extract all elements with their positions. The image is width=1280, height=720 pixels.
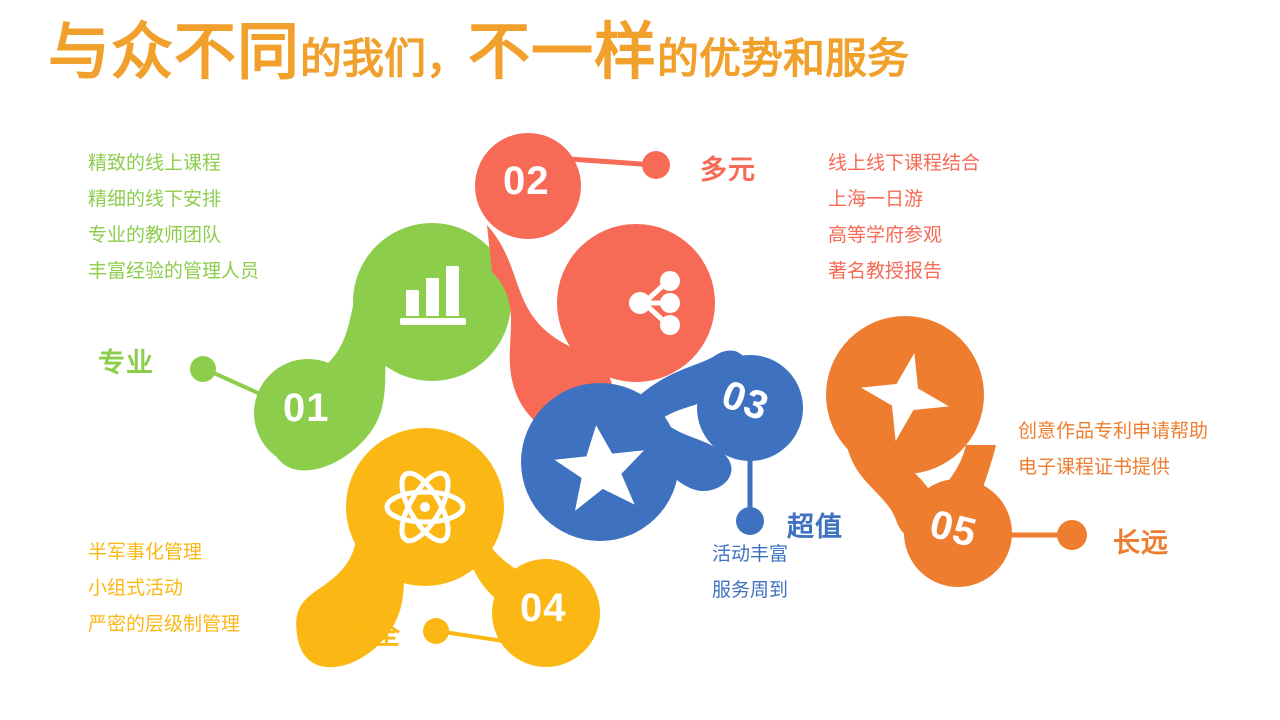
- item-text: 精致的线上课程: [88, 146, 259, 182]
- item-text: 小组式活动: [88, 571, 240, 607]
- item-text: 专业的教师团队: [88, 218, 259, 254]
- item-text: 高等学府参观: [828, 218, 980, 254]
- connector-dot-04: [423, 618, 449, 644]
- item-text: 活动丰富: [712, 537, 788, 573]
- item-text: 电子课程证书提供: [1018, 450, 1208, 486]
- item-text: 线上线下课程结合: [828, 146, 980, 182]
- category-label-01: 专业: [98, 341, 154, 380]
- category-label-04: 安全: [345, 613, 401, 652]
- item-text: 半军事化管理: [88, 535, 240, 571]
- item-text: 上海一日游: [828, 182, 980, 218]
- items-block-04: 半军事化管理 小组式活动 严密的层级制管理: [88, 535, 240, 643]
- item-text: 著名教授报告: [828, 254, 980, 290]
- items-block-03: 活动丰富 服务周到: [712, 537, 788, 609]
- item-text: 丰富经验的管理人员: [88, 254, 259, 290]
- category-label-02: 多元: [700, 148, 756, 187]
- node-number-04: 04: [520, 586, 567, 631]
- node-shape-01: [254, 223, 511, 471]
- connector-dot-05: [1057, 520, 1087, 550]
- connector-dot-03: [736, 507, 764, 535]
- node-shape-05: [826, 316, 1012, 587]
- items-block-01: 精致的线上课程 精细的线下安排 专业的教师团队 丰富经验的管理人员: [88, 146, 259, 290]
- items-block-05: 创意作品专利申请帮助 电子课程证书提供: [1018, 414, 1208, 486]
- item-text: 服务周到: [712, 573, 788, 609]
- slide-canvas: 与众不同的我们，不一样的优势和服务: [0, 0, 1280, 720]
- node-number-01: 01: [283, 386, 330, 431]
- category-label-03: 超值: [787, 505, 843, 544]
- item-text: 创意作品专利申请帮助: [1018, 414, 1208, 450]
- items-block-02: 线上线下课程结合 上海一日游 高等学府参观 著名教授报告: [828, 146, 980, 290]
- node-number-02: 02: [503, 159, 550, 204]
- item-text: 精细的线下安排: [88, 182, 259, 218]
- item-text: 严密的层级制管理: [88, 607, 240, 643]
- connector-dot-02: [642, 151, 670, 179]
- category-label-05: 长远: [1113, 521, 1169, 560]
- connector-dot-01: [190, 356, 216, 382]
